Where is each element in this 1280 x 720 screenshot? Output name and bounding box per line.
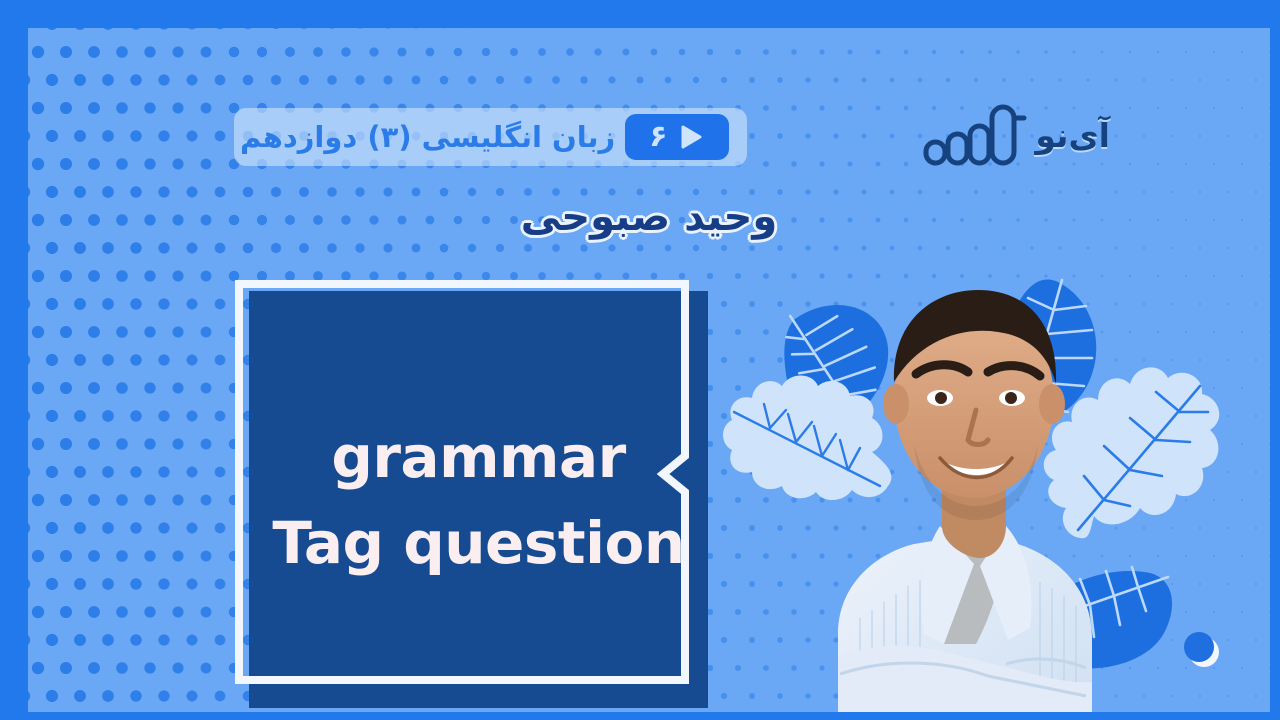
brand-logo[interactable]: آی‌نو: [923, 104, 1110, 166]
title-line-1: grammar: [331, 428, 625, 486]
leaf-icon: [988, 276, 1113, 431]
oak-leaf-icon: [720, 368, 895, 513]
bar-chart-logo-icon: [923, 104, 1027, 166]
leaf-icon: [1028, 563, 1178, 678]
presenter-photo: [688, 214, 1138, 712]
slide-root: ۶ زبان انگلیسی (۳) دوازدهم آی‌نو: [0, 0, 1280, 720]
title-card: grammar Tag question: [233, 278, 708, 708]
instructor-name: وحید صبوحی: [28, 194, 1270, 240]
course-pill[interactable]: ۶ زبان انگلیسی (۳) دوازدهم: [234, 108, 747, 166]
content-panel: ۶ زبان انگلیسی (۳) دوازدهم آی‌نو: [28, 28, 1270, 712]
episode-badge[interactable]: ۶: [625, 114, 729, 160]
title-line-2: Tag question: [272, 514, 684, 572]
circle-decoration: [1184, 632, 1218, 666]
oak-leaf-icon: [1038, 316, 1228, 551]
course-title: زبان انگلیسی (۳) دوازدهم: [240, 120, 615, 154]
episode-number: ۶: [649, 122, 667, 152]
logo-text: آی‌نو: [1035, 119, 1110, 152]
play-icon: [675, 122, 705, 152]
instructor-name-text: وحید صبوحی: [521, 194, 777, 240]
title-card-text: grammar Tag question: [249, 291, 708, 708]
leaf-icon: [773, 293, 903, 433]
